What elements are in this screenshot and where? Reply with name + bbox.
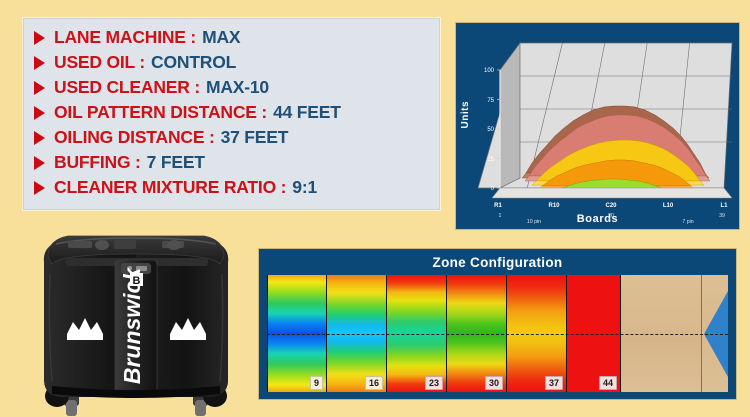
svg-text:R10: R10	[548, 203, 560, 209]
triangle-bullet-icon	[34, 81, 45, 95]
triangle-bullet-icon	[34, 106, 45, 120]
spec-value: 44 FEET	[273, 102, 341, 123]
triangle-bullet-icon	[34, 131, 45, 145]
spec-key: USED OIL :	[54, 52, 145, 73]
triangle-bullet-icon	[34, 31, 45, 45]
spec-row: USED OIL : CONTROL	[34, 50, 431, 75]
svg-text:L1: L1	[720, 203, 728, 209]
spec-row: CLEANER MIXTURE RATIO : 9:1	[34, 175, 431, 200]
lane-wood-area	[621, 275, 702, 392]
triangle-bullet-icon	[34, 56, 45, 70]
spec-key: CLEANER MIXTURE RATIO :	[54, 177, 286, 198]
spec-value: MAX-10	[206, 77, 269, 98]
zone-label: 16	[365, 376, 383, 390]
spec-row: OILING DISTANCE : 37 FEET	[34, 125, 431, 150]
spec-row: BUFFING : 7 FEET	[34, 150, 431, 175]
lane-machine-illustration: Brunswick B	[22, 230, 250, 417]
svg-text:L10: L10	[663, 203, 674, 209]
triangle-bullet-icon	[34, 181, 45, 195]
spec-value: CONTROL	[151, 52, 236, 73]
spec-key: BUFFING :	[54, 152, 141, 173]
zone-block[interactable]: 44	[567, 275, 621, 392]
spec-row: USED CLEANER : MAX-10	[34, 75, 431, 100]
zone-label: 37	[545, 376, 563, 390]
spec-row: OIL PATTERN DISTANCE : 44 FEET	[34, 100, 431, 125]
zone-block[interactable]: 37	[507, 275, 567, 392]
svg-text:75: 75	[487, 98, 494, 104]
lane-pin-deck-area	[702, 275, 728, 392]
triangle-bullet-icon	[34, 156, 45, 170]
zone-label: 30	[485, 376, 503, 390]
spec-row: LANE MACHINE : MAX	[34, 25, 431, 50]
oil-pattern-3d-chart: 100 75 50 25 0 R1 R10 C20 L10 L1 1 20 39…	[456, 23, 741, 231]
svg-text:100: 100	[484, 68, 495, 74]
svg-text:C20: C20	[605, 203, 617, 209]
chart-y-axis-label: Units	[460, 101, 471, 129]
chart-x-axis-label: Boards	[456, 213, 739, 225]
lane-condition-specs-panel: LANE MACHINE : MAX USED OIL : CONTROL US…	[23, 18, 440, 210]
spec-value: 37 FEET	[221, 127, 289, 148]
spec-value: 7 FEET	[147, 152, 205, 173]
direction-arrow-icon	[704, 291, 728, 377]
zone-configuration-panel: Zone Configuration 9 16 23 30 37 44	[258, 248, 737, 400]
zone-configuration-title: Zone Configuration	[262, 252, 733, 275]
brand-mark-b: B	[133, 275, 141, 287]
zone-block[interactable]: 9	[267, 275, 327, 392]
svg-text:25: 25	[487, 157, 494, 163]
oil-pattern-3d-chart-panel: 100 75 50 25 0 R1 R10 C20 L10 L1 1 20 39…	[455, 22, 740, 230]
zone-label: 9	[310, 376, 323, 390]
zone-label: 23	[425, 376, 443, 390]
svg-text:50: 50	[487, 127, 494, 133]
zone-block[interactable]: 23	[387, 275, 447, 392]
zone-block[interactable]: 16	[327, 275, 387, 392]
zone-block[interactable]: 30	[447, 275, 507, 392]
spec-key: OILING DISTANCE :	[54, 127, 215, 148]
zone-label: 44	[599, 376, 617, 390]
spec-key: OIL PATTERN DISTANCE :	[54, 102, 267, 123]
zone-strip: 9 16 23 30 37 44	[267, 275, 728, 392]
svg-text:R1: R1	[494, 203, 502, 209]
brunswick-lane-machine: Brunswick B	[22, 230, 250, 417]
spec-value: MAX	[202, 27, 240, 48]
spec-value: 9:1	[292, 177, 317, 198]
spec-key: LANE MACHINE :	[54, 27, 196, 48]
spec-key: USED CLEANER :	[54, 77, 200, 98]
